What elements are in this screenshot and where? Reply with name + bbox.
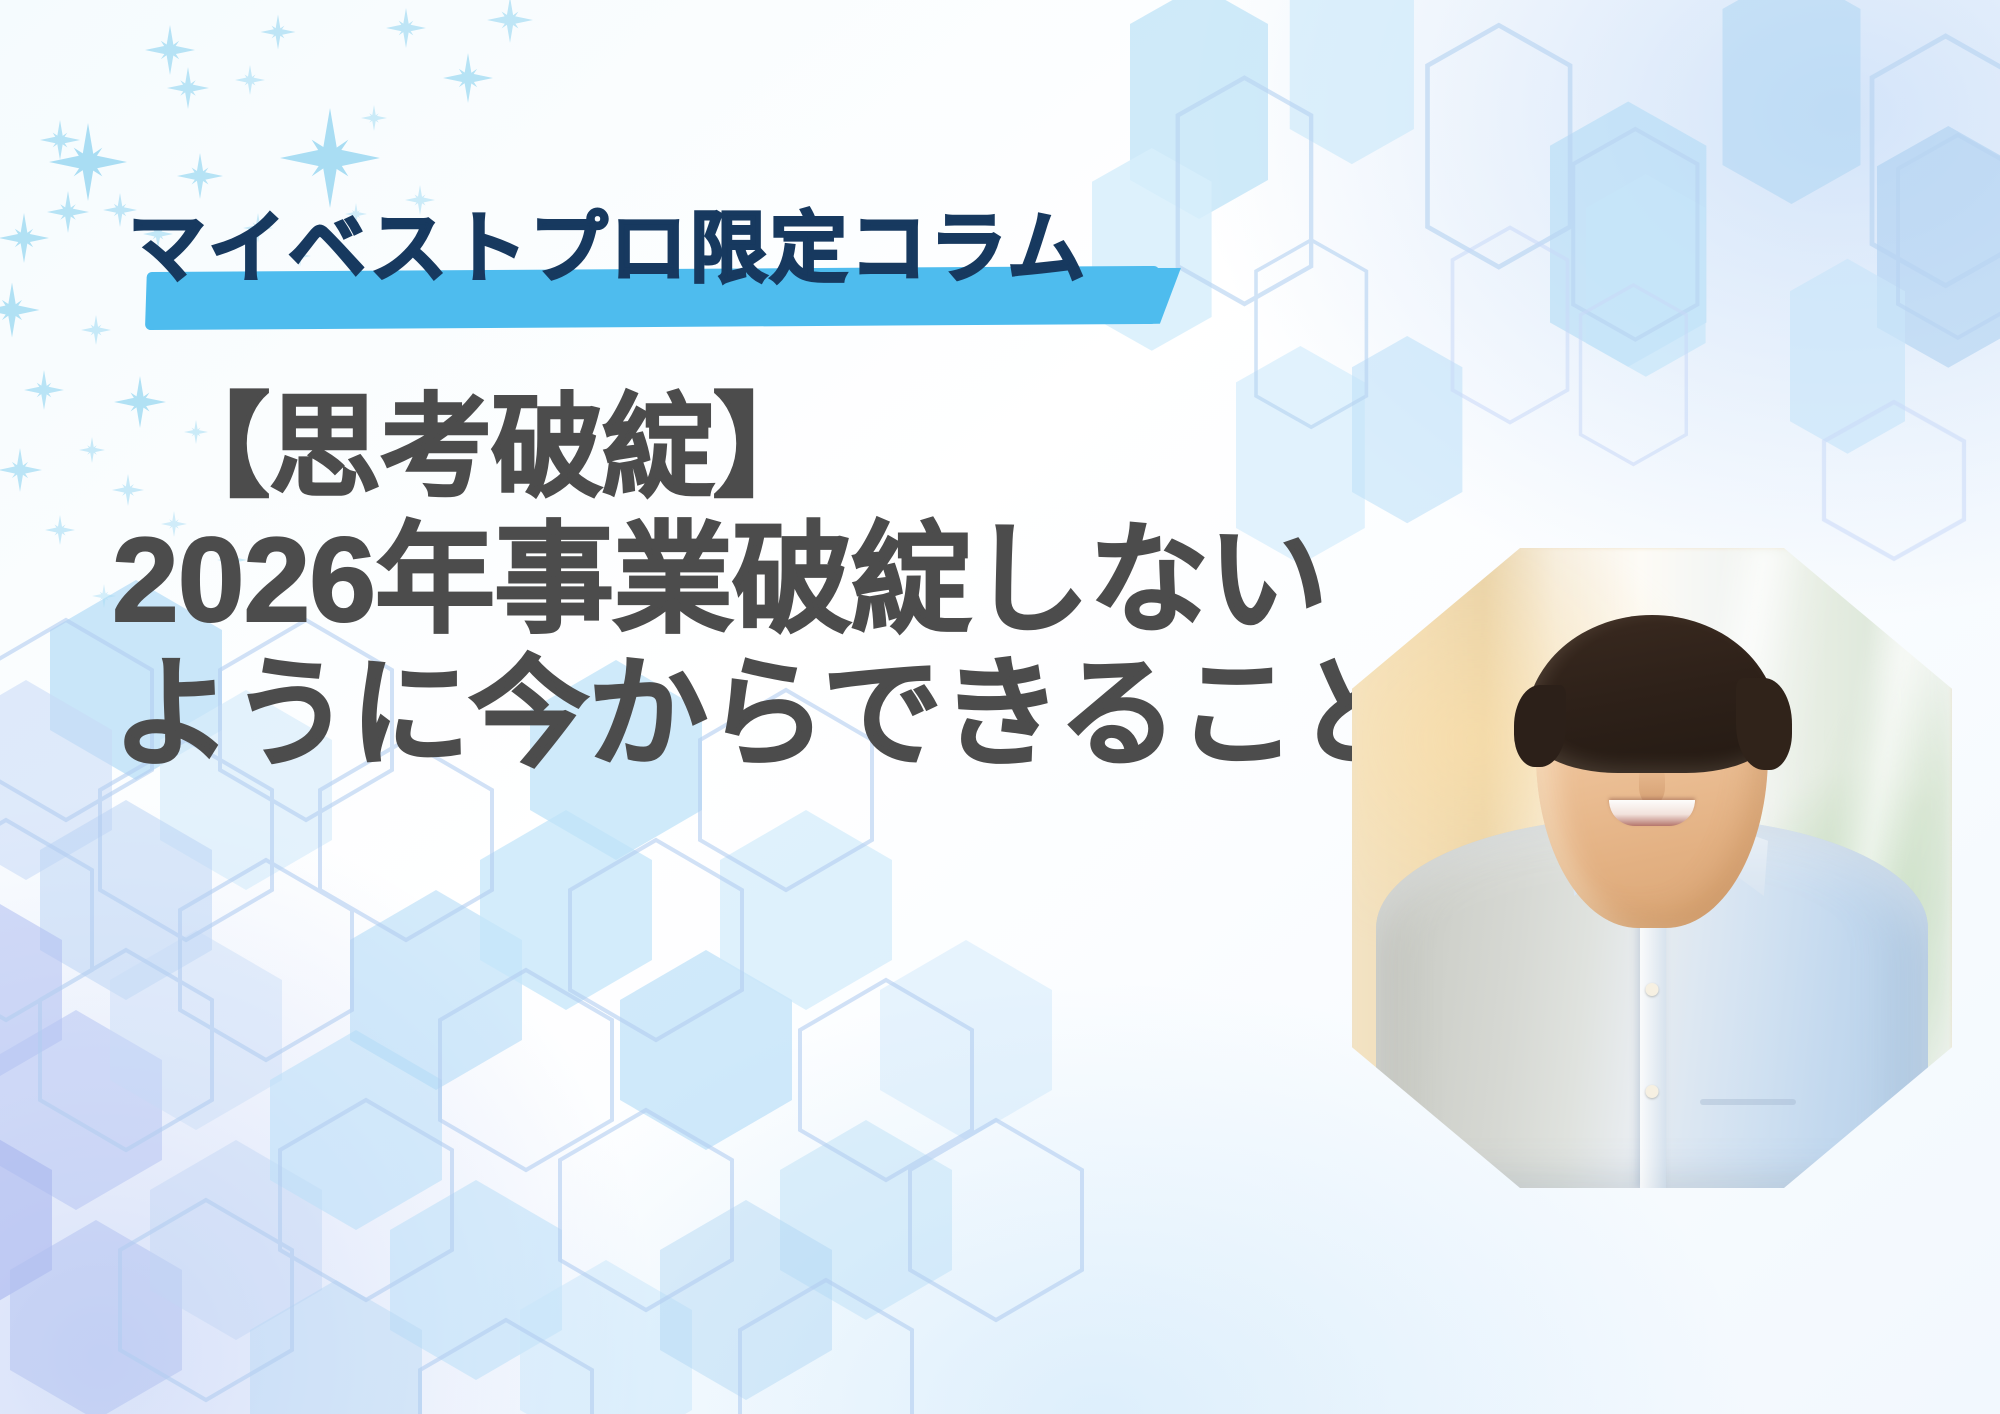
headline-line-2: 2026年事業破綻しない [112, 520, 1532, 640]
author-portrait-photo [1352, 548, 1952, 1188]
eyebrow-label: マイベストプロ限定コラム [128, 196, 1087, 301]
headline-line-1: 【思考破綻】 [112, 392, 1532, 504]
portrait-shirt-pocket [1700, 1099, 1796, 1105]
eyebrow-label-group: マイベストプロ限定コラム [128, 196, 1388, 326]
page-title: 【思考破綻】 2026年事業破綻しない ように今からできること [112, 392, 1532, 774]
headline-line-3: ように今からできること [112, 654, 1532, 774]
portrait-shirt-button [1646, 1085, 1659, 1098]
portrait-smile [1609, 800, 1695, 826]
portrait-shirt-button [1646, 983, 1659, 996]
column-banner: マイベストプロ限定コラム 【思考破綻】 2026年事業破綻しない ように今からで… [0, 0, 2000, 1414]
